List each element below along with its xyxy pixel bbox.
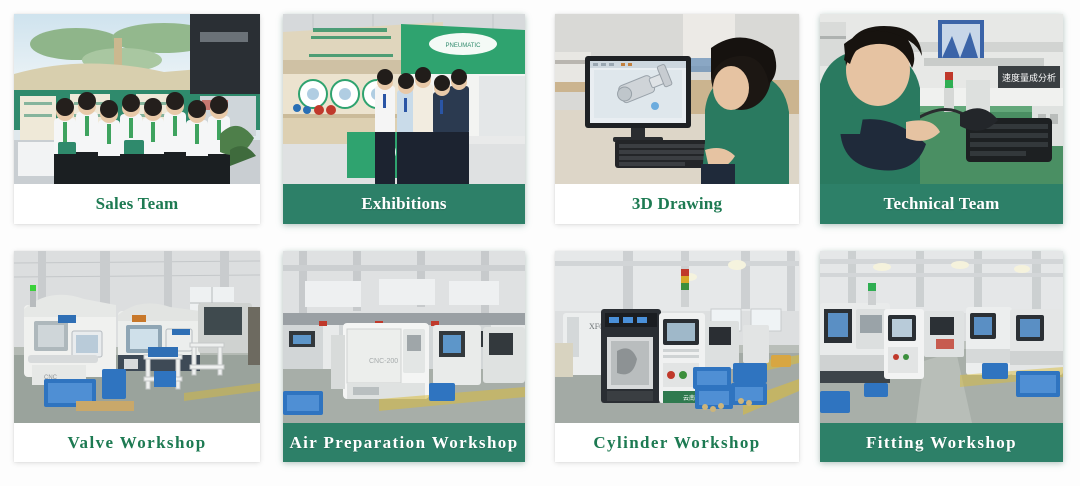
card-caption-exhibitions: Exhibitions (283, 184, 525, 224)
card-caption-fitting-workshop: Fitting Workshop (820, 423, 1063, 462)
card-caption-sales-team: Sales Team (14, 184, 260, 223)
card-photo-exhibitions: PNEUMATIC (283, 14, 525, 184)
gallery-card-cylinder-workshop[interactable]: XF035 云南机床 (555, 251, 799, 462)
card-caption-cylinder-workshop: Cylinder Workshop (555, 423, 799, 462)
svg-text:PNEUMATIC: PNEUMATIC (446, 43, 482, 49)
card-caption-3d-drawing: 3D Drawing (555, 184, 799, 224)
card-caption-valve-workshop: Valve Workshop (14, 423, 260, 462)
card-photo-sales-team (14, 14, 260, 184)
card-photo-3d-drawing (555, 14, 799, 184)
card-photo-cylinder-workshop: XF035 云南机床 (555, 251, 799, 423)
card-caption-technical-team: Technical Team (820, 184, 1063, 224)
gallery-card-technical-team[interactable]: 速度量成分析 (820, 14, 1063, 224)
card-caption-air-preparation-workshop: Air Preparation Workshop (283, 423, 525, 462)
card-photo-valve-workshop: CNC (14, 251, 260, 423)
gallery-card-3d-drawing[interactable]: 3D Drawing (555, 14, 799, 224)
gallery-card-air-preparation-workshop[interactable]: CNC-200 Air Preparation Workshop (283, 251, 525, 462)
gallery-card-exhibitions[interactable]: PNEUMATIC (283, 14, 525, 224)
card-photo-air-preparation-workshop: CNC-200 (283, 251, 525, 423)
card-photo-technical-team: 速度量成分析 (820, 14, 1063, 184)
factory-gallery: Sales Team PNEUMATIC (0, 0, 1080, 486)
gallery-card-sales-team[interactable]: Sales Team (14, 14, 260, 224)
card-photo-fitting-workshop (820, 251, 1063, 423)
gallery-card-fitting-workshop[interactable]: Fitting Workshop (820, 251, 1063, 462)
gallery-card-valve-workshop[interactable]: CNC (14, 251, 260, 462)
svg-text:CNC-200: CNC-200 (369, 358, 398, 365)
svg-text:速度量成分析: 速度量成分析 (1002, 72, 1056, 83)
